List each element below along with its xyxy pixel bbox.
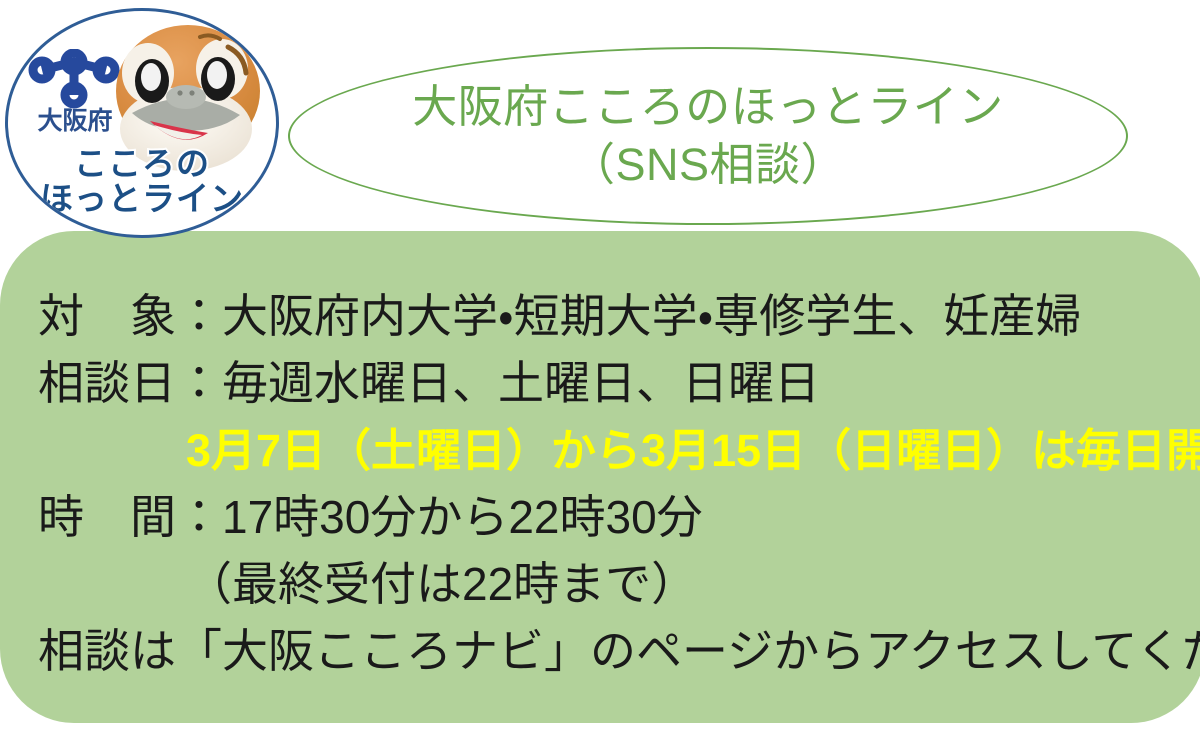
title-line-primary: 大阪府こころのほっとライン [412,78,1004,136]
detail-line-special-period: 3月7日（土曜日）から3月15日（日曜日）は毎日開設 [0,417,1200,484]
logo-inner: 大阪府 [8,11,276,235]
title-line-secondary: （SNS相談） [570,136,846,194]
detail-line-access-note: 相談は「大阪こころナビ」のページからアクセスしてください。 [0,618,1200,685]
logo-wordmark: こころの ほっとライン [8,147,276,217]
detail-line-last-reception: （最終受付は22時まで） [0,551,1200,618]
logo-word-line-2: ほっとライン [8,182,276,217]
title-oval: 大阪府こころのほっとライン （SNS相談） [288,47,1128,225]
detail-line-hours: 時 間：17時30分から22時30分 [0,484,1200,551]
detail-line-consultation-days: 相談日：毎週水曜日、土曜日、日曜日 [0,350,1200,417]
logo-word-line-1: こころの [8,147,276,182]
detail-line-target: 対 象：大阪府内大学・短期大学・専修学生、妊産婦 [0,283,1200,350]
logo-badge: 大阪府 [5,8,279,238]
details-block: 対 象：大阪府内大学・短期大学・専修学生、妊産婦 相談日：毎週水曜日、土曜日、日… [0,283,1200,685]
poster-root: 大阪府こころのほっとライン （SNS相談） 大阪府 [0,0,1200,734]
